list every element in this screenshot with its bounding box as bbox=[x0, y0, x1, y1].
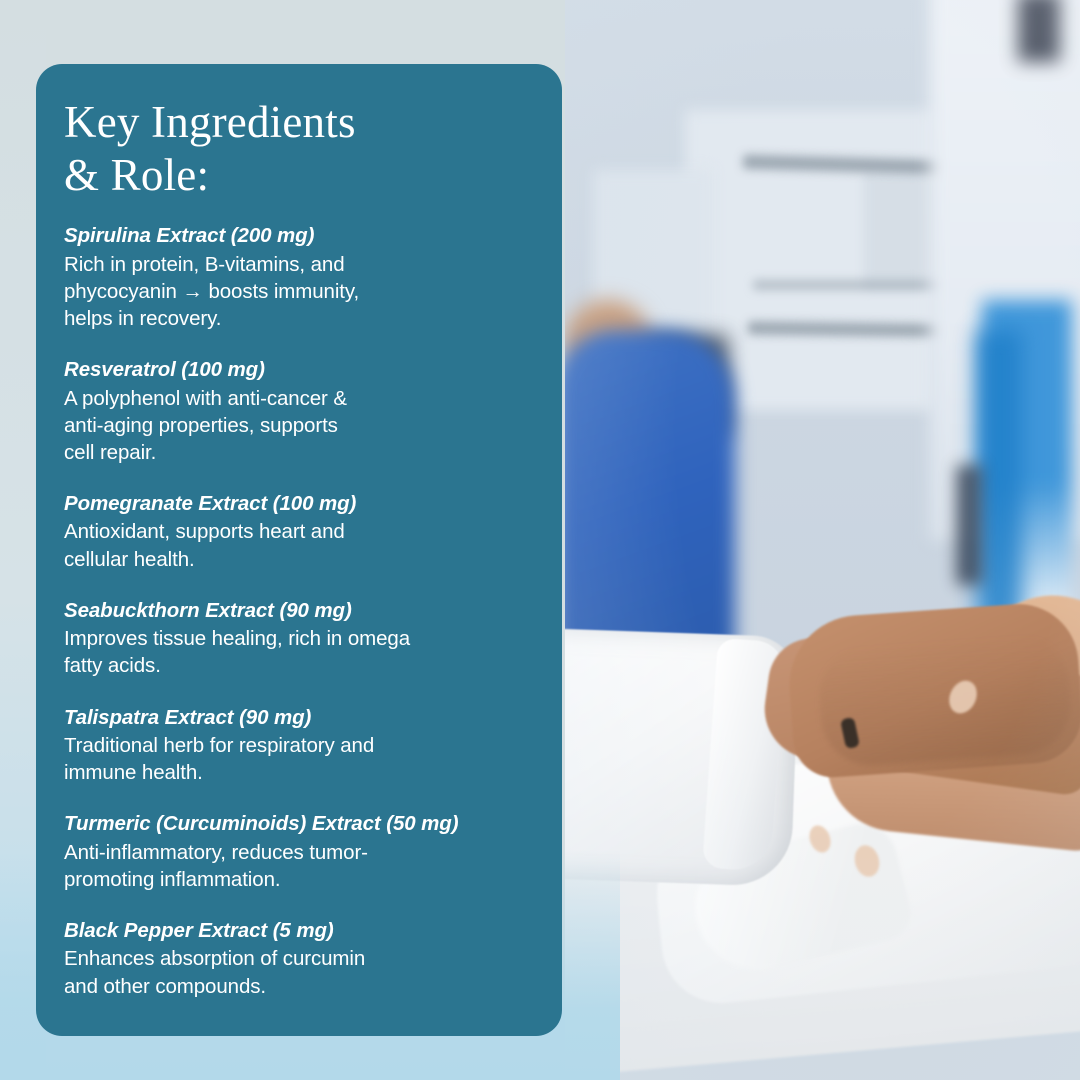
hospital-photo bbox=[565, 0, 1080, 1080]
ingredient-description: A polyphenol with anti-cancer & anti-agi… bbox=[64, 385, 522, 467]
ingredient-description: Traditional herb for respiratory and imm… bbox=[64, 732, 522, 787]
ingredient-description: Anti-inflammatory, reduces tumor- promot… bbox=[64, 839, 522, 894]
ingredient-item-seabuckthorn: Seabuckthorn Extract (90 mg) Improves ti… bbox=[64, 598, 522, 680]
ingredient-name: Resveratrol (100 mg) bbox=[64, 357, 522, 383]
ingredient-name: Turmeric (Curcuminoids) Extract (50 mg) bbox=[64, 811, 522, 837]
ingredient-description: Rich in protein, B-vitamins, and phycocy… bbox=[64, 251, 522, 333]
ingredient-description: Improves tissue healing, rich in omega f… bbox=[64, 625, 522, 680]
photo-right-blue-shape-2 bbox=[976, 330, 1022, 630]
ingredient-item-spirulina: Spirulina Extract (200 mg) Rich in prote… bbox=[64, 223, 522, 332]
ingredient-item-resveratrol: Resveratrol (100 mg) A polyphenol with a… bbox=[64, 357, 522, 466]
card-title: Key Ingredients & Role: bbox=[64, 96, 522, 201]
photo-right-dark-accent bbox=[1018, 0, 1060, 62]
ingredient-item-talispatra: Talispatra Extract (90 mg) Traditional h… bbox=[64, 705, 522, 787]
ingredient-item-turmeric: Turmeric (Curcuminoids) Extract (50 mg) … bbox=[64, 811, 522, 893]
photo-finger-shading bbox=[816, 631, 1074, 768]
ingredient-name: Pomegranate Extract (100 mg) bbox=[64, 491, 522, 517]
ingredient-name: Seabuckthorn Extract (90 mg) bbox=[64, 598, 522, 624]
ingredient-name: Talispatra Extract (90 mg) bbox=[64, 705, 522, 731]
key-ingredients-card: Key Ingredients & Role: Spirulina Extrac… bbox=[36, 64, 562, 1036]
ingredient-item-pomegranate: Pomegranate Extract (100 mg) Antioxidant… bbox=[64, 491, 522, 573]
ingredients-list: Spirulina Extract (200 mg) Rich in prote… bbox=[64, 223, 522, 1000]
photo-dark-vertical bbox=[956, 465, 982, 585]
ingredient-description: Antioxidant, supports heart and cellular… bbox=[64, 518, 522, 573]
poster-canvas: Key Ingredients & Role: Spirulina Extrac… bbox=[0, 0, 1080, 1080]
ingredient-name: Black Pepper Extract (5 mg) bbox=[64, 918, 522, 944]
ingredient-item-black-pepper: Black Pepper Extract (5 mg) Enhances abs… bbox=[64, 918, 522, 1000]
ingredient-description: Enhances absorption of curcumin and othe… bbox=[64, 945, 522, 1000]
ingredient-name: Spirulina Extract (200 mg) bbox=[64, 223, 522, 249]
